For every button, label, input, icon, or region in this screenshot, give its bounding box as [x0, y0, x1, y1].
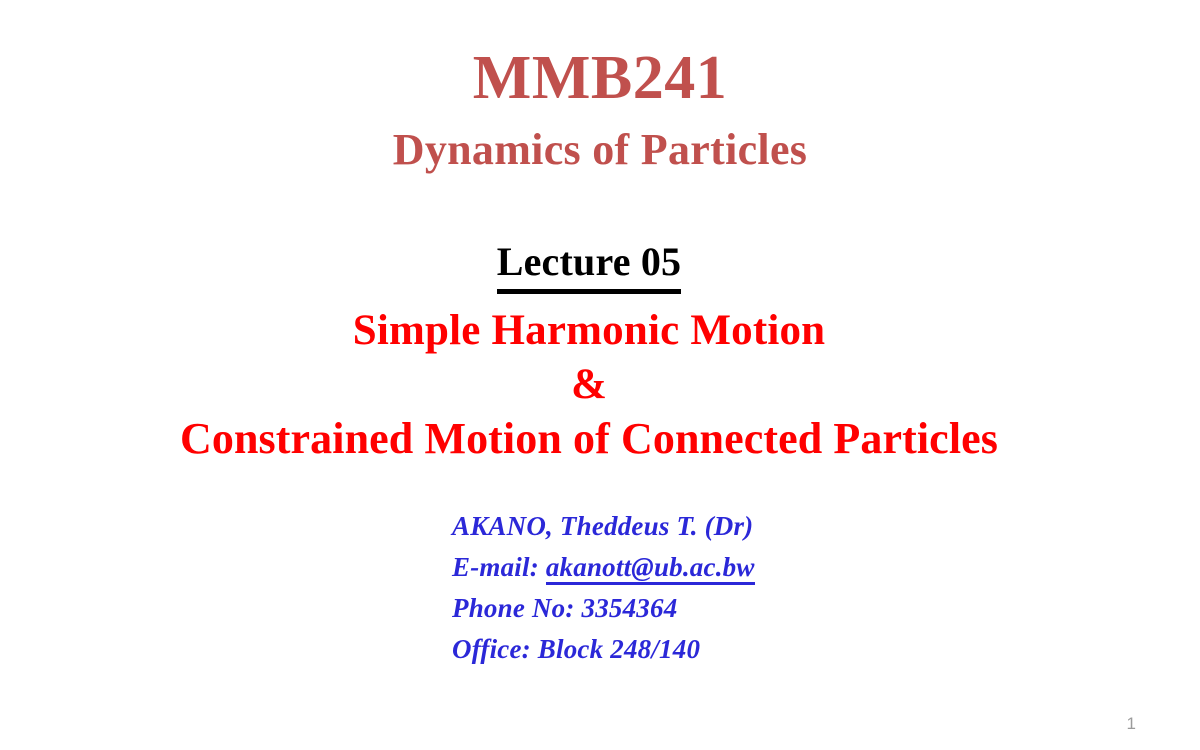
presentation-slide: MMB241 Dynamics of Particles Lecture 05 …	[0, 0, 1200, 750]
instructor-contact-block: AKANO, Theddeus T. (Dr) E-mail: akanott@…	[452, 506, 932, 670]
lecture-number-line: Lecture 05	[0, 238, 1178, 294]
slide-number: 1	[1127, 714, 1136, 734]
title-block: MMB241 Dynamics of Particles	[0, 46, 1200, 176]
lecture-body-block: Lecture 05 Simple Harmonic Motion & Cons…	[0, 238, 1178, 466]
instructor-email-line: E-mail: akanott@ub.ac.bw	[452, 547, 932, 588]
lecture-number-label: Lecture 05	[497, 238, 682, 294]
course-code-title: MMB241	[0, 46, 1200, 112]
email-address-link[interactable]: akanott@ub.ac.bw	[546, 552, 755, 585]
instructor-name: AKANO, Theddeus T. (Dr)	[452, 506, 932, 547]
topic-line-secondary: Constrained Motion of Connected Particle…	[0, 411, 1178, 466]
instructor-phone: Phone No: 3354364	[452, 588, 932, 629]
topic-line-primary: Simple Harmonic Motion	[0, 304, 1178, 358]
instructor-office: Office: Block 248/140	[452, 629, 932, 670]
email-label: E-mail:	[452, 552, 539, 582]
topic-conjunction: &	[0, 358, 1178, 412]
course-name-subtitle: Dynamics of Particles	[0, 124, 1200, 176]
